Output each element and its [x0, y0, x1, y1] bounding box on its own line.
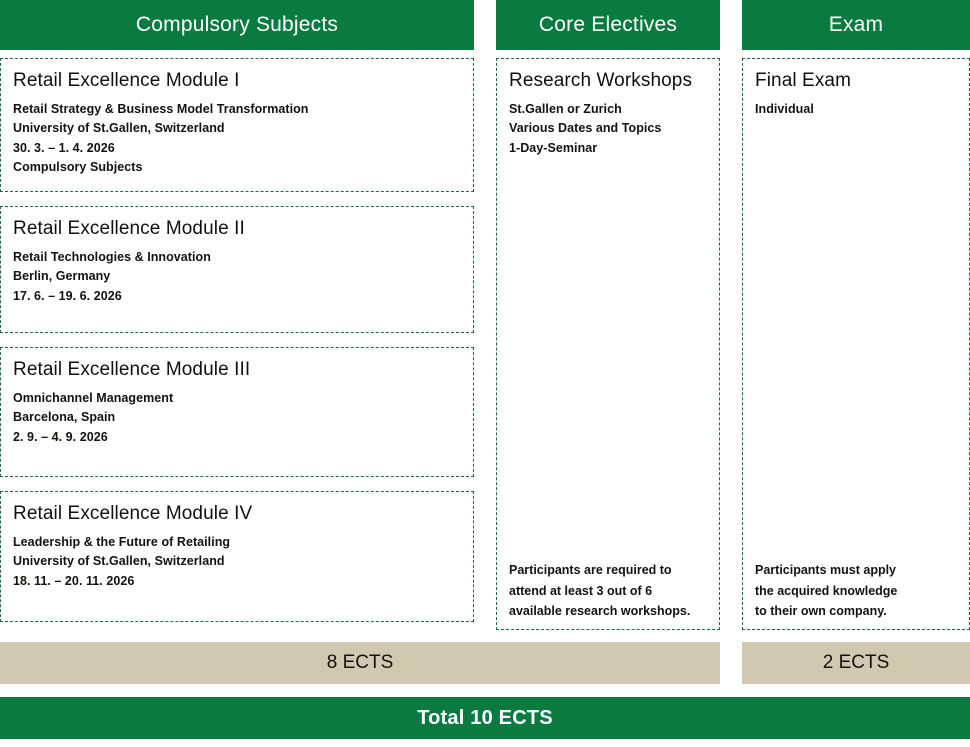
ects-bar-compulsory-and-electives: 8 ECTS [0, 642, 720, 684]
module-detail-line: Compulsory Subjects [13, 158, 461, 177]
card-title: Final Exam [755, 69, 957, 93]
module-detail-line: Barcelona, Spain [13, 408, 461, 427]
module-detail-line: 30. 3. – 1. 4. 2026 [13, 139, 461, 158]
module-title: Retail Excellence Module I [13, 69, 461, 93]
electives-footnote: Participants are required to attend at l… [509, 560, 707, 621]
column-exam: Exam Final Exam Individual Participants … [742, 0, 970, 630]
curriculum-diagram: Compulsory Subjects Retail Excellence Mo… [0, 0, 970, 747]
footnote-line: Participants must apply [755, 560, 957, 580]
research-workshops-card: Research Workshops St.Gallen or Zurich V… [496, 58, 720, 630]
total-ects-bar: Total 10 ECTS [0, 697, 970, 739]
columns-container: Compulsory Subjects Retail Excellence Mo… [0, 0, 970, 630]
card-detail-line: St.Gallen or Zurich [509, 100, 707, 119]
module-title: Retail Excellence Module II [13, 217, 461, 241]
module-detail-line: Leadership & the Future of Retailing [13, 533, 461, 552]
module-card-4: Retail Excellence Module IV Leadership &… [0, 491, 474, 622]
card-title: Research Workshops [509, 69, 707, 93]
footnote-emphasis: 3 out of 6 [597, 584, 653, 598]
module-detail-line: Retail Strategy & Business Model Transfo… [13, 100, 461, 119]
exam-footnote: Participants must apply the acquired kno… [755, 560, 957, 621]
final-exam-card: Final Exam Individual Participants must … [742, 58, 970, 630]
exam-body: Final Exam Individual Participants must … [742, 58, 970, 630]
module-title: Retail Excellence Module III [13, 358, 461, 382]
module-detail-line: Retail Technologies & Innovation [13, 248, 461, 267]
card-detail-line: Various Dates and Topics [509, 119, 707, 138]
column-core-electives: Core Electives Research Workshops St.Gal… [496, 0, 720, 630]
footnote-line: attend at least 3 out of 6 [509, 581, 707, 601]
module-detail-line: 2. 9. – 4. 9. 2026 [13, 428, 461, 447]
footnote-line: available research workshops. [509, 601, 707, 621]
module-detail-line: 18. 11. – 20. 11. 2026 [13, 572, 461, 591]
module-card-3: Retail Excellence Module III Omnichannel… [0, 347, 474, 477]
footnote-line: to their own company. [755, 601, 957, 621]
module-detail-line: University of St.Gallen, Switzerland [13, 119, 461, 138]
card-detail-line: Individual [755, 100, 957, 119]
column-header-exam: Exam [742, 0, 970, 50]
module-detail-line: 17. 6. – 19. 6. 2026 [13, 287, 461, 306]
column-header-core-electives: Core Electives [496, 0, 720, 50]
module-detail-line: Omnichannel Management [13, 389, 461, 408]
footnote-text: attend at least [509, 584, 597, 598]
ects-bar-exam: 2 ECTS [742, 642, 970, 684]
footnote-line: Participants are required to [509, 560, 707, 580]
module-card-2: Retail Excellence Module II Retail Techn… [0, 206, 474, 333]
module-card-1: Retail Excellence Module I Retail Strate… [0, 58, 474, 192]
module-title: Retail Excellence Module IV [13, 502, 461, 526]
column-header-compulsory-subjects: Compulsory Subjects [0, 0, 474, 50]
core-electives-body: Research Workshops St.Gallen or Zurich V… [496, 58, 720, 630]
column-compulsory-subjects: Compulsory Subjects Retail Excellence Mo… [0, 0, 474, 630]
footnote-line: the acquired knowledge [755, 581, 957, 601]
module-detail-line: Berlin, Germany [13, 267, 461, 286]
module-detail-line: University of St.Gallen, Switzerland [13, 552, 461, 571]
ects-row: 8 ECTS 2 ECTS [0, 642, 970, 684]
compulsory-modules-list: Retail Excellence Module I Retail Strate… [0, 58, 474, 622]
card-detail-line: 1-Day-Seminar [509, 139, 707, 158]
